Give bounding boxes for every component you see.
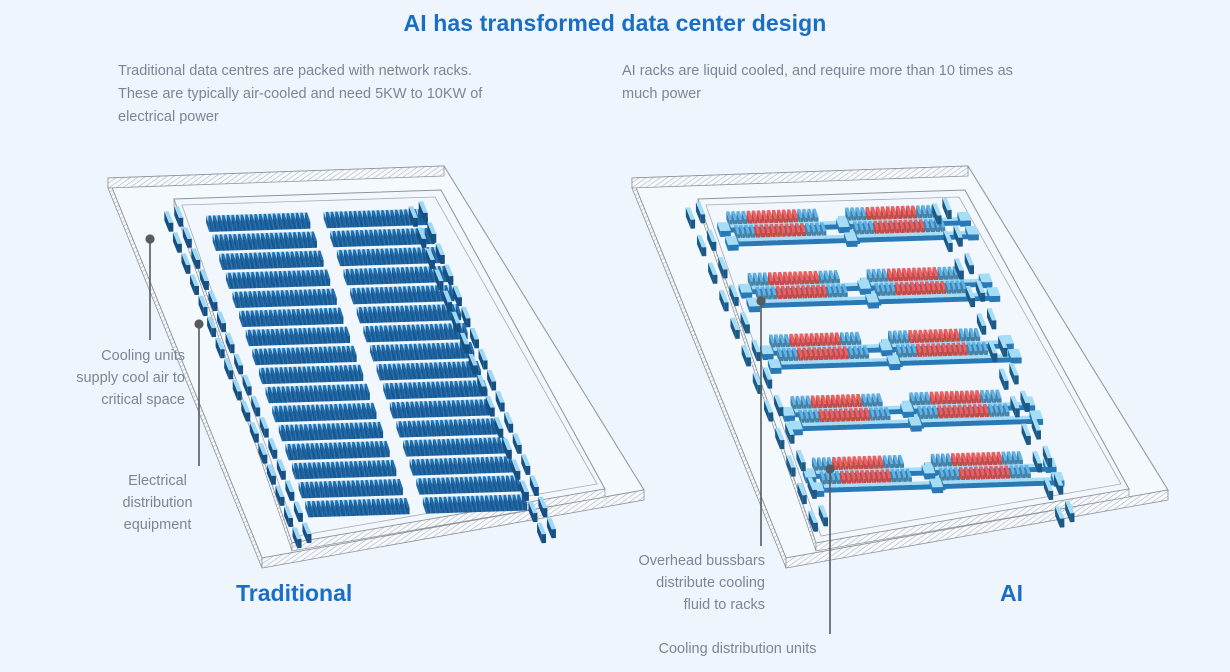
cooling-unit-side (947, 210, 951, 219)
cooling-unit-side (273, 450, 277, 459)
cooling-unit-side (473, 365, 477, 374)
cooling-unit-side (456, 323, 460, 332)
rack-unit-side (459, 313, 461, 320)
cooling-unit-side (169, 223, 173, 232)
annotation-electrical-distribution: Electrical distribution equipment (100, 470, 215, 536)
annotation-electrical-line-3: equipment (100, 514, 215, 536)
rack-unit-side (525, 503, 527, 510)
cooling-unit-side (205, 281, 209, 290)
rack-unit-side (335, 298, 337, 305)
cooling-unit-side (432, 234, 436, 243)
cooling-unit-side (734, 297, 738, 306)
rack-unit-side (315, 241, 317, 248)
cooling-unit-side (178, 244, 182, 253)
cooling-unit-side (280, 497, 284, 506)
cooling-unit-side (263, 455, 267, 464)
cooling-unit-side (483, 360, 487, 369)
cooling-unit-side (1048, 458, 1052, 467)
cooling-unit-side (222, 323, 226, 332)
cooling-unit-side (992, 320, 996, 329)
cooling-unit-side (499, 429, 503, 438)
cooling-distribution-unit-side (742, 292, 753, 298)
cooling-unit-side (516, 471, 520, 480)
cooling-unit-side (526, 466, 530, 475)
cooling-unit-side (802, 495, 806, 504)
cooling-distribution-unit-side (925, 473, 936, 479)
cooling-unit-side (958, 238, 962, 247)
annotation-electrical-line-2: distribution (100, 492, 215, 514)
rack-unit-side (401, 488, 403, 495)
cooling-unit-side (702, 247, 706, 256)
annotation-cdu-line-1: Cooling distribution units (630, 638, 845, 660)
cooling-unit-side (712, 242, 716, 251)
cooling-unit-side (780, 440, 784, 449)
cooling-unit-side (458, 297, 462, 306)
cooling-distribution-unit-side (982, 282, 993, 288)
cooling-unit-side (534, 487, 538, 496)
cooling-unit-side (552, 529, 556, 538)
cooling-unit-side (971, 298, 975, 307)
leader-dot-cooling-units (145, 234, 154, 243)
cooling-unit-side (1015, 408, 1019, 417)
cooling-distribution-unit-side (728, 244, 739, 250)
cooling-distribution-unit-side (847, 241, 858, 247)
cooling-unit-side (264, 428, 268, 437)
annotation-electrical-line-1: Electrical (100, 470, 215, 492)
cooling-unit-side (517, 445, 521, 454)
cooling-unit-side (196, 260, 200, 269)
rack-unit-side (374, 412, 376, 419)
annotation-bussbars-line-3: fluid to racks (600, 594, 765, 616)
cooling-distribution-unit-side (868, 302, 879, 308)
cooling-distribution-unit-side (968, 234, 979, 240)
cooling-unit-side (960, 270, 964, 279)
cooling-unit-side (203, 307, 207, 316)
cooling-unit-side (440, 255, 444, 264)
leader-dot-electrical (194, 319, 203, 328)
cooling-unit-side (801, 462, 805, 471)
cooling-unit-side (790, 435, 794, 444)
cooling-unit-side (1003, 348, 1007, 357)
cooling-distribution-unit-side (763, 354, 774, 360)
cooling-unit-side (466, 318, 470, 327)
cooling-unit-side (431, 260, 435, 269)
cooling-unit-side (465, 344, 469, 353)
cooling-unit-side (701, 214, 705, 223)
cooling-distribution-unit-side (1046, 467, 1057, 473)
cooling-unit-side (212, 328, 216, 337)
cooling-unit-side (246, 412, 250, 421)
cooling-unit-side (948, 243, 952, 252)
rack-unit-side (407, 507, 409, 514)
cooling-unit-side (542, 534, 546, 543)
rack-unit-side (381, 431, 383, 438)
cooling-distribution-unit-side (911, 425, 922, 431)
cooling-unit-side (769, 412, 773, 421)
cooling-distribution-unit-side (933, 487, 944, 493)
cooling-unit-side (509, 424, 513, 433)
cooling-unit-side (1027, 436, 1031, 445)
cooling-unit-side (229, 370, 233, 379)
cooling-unit-side (691, 220, 695, 229)
cooling-unit-side (220, 349, 224, 358)
cooling-unit-side (448, 302, 452, 311)
floor-label-traditional: Traditional (236, 580, 352, 607)
cooling-unit-side (1059, 486, 1063, 495)
rack-unit-side (341, 317, 343, 324)
cooling-unit-side (256, 407, 260, 416)
cooling-distribution-unit-side (960, 220, 971, 226)
leader-dot-bussbars (756, 296, 765, 305)
cooling-unit-side (439, 281, 443, 290)
cooling-unit-side (1060, 518, 1064, 527)
cooling-unit-side (299, 513, 303, 522)
annotation-cooling-distribution-units: Cooling distribution units (630, 638, 845, 660)
cooling-unit-side (500, 403, 504, 412)
cooling-unit-side (812, 490, 816, 499)
cooling-unit-side (791, 468, 795, 477)
cooling-unit-side (724, 302, 728, 311)
rack-unit-side (308, 222, 310, 229)
annotation-cooling-line-2: supply cool air to (10, 367, 185, 389)
cooling-unit-side (297, 539, 301, 548)
cooling-distribution-unit-side (990, 296, 1001, 302)
cooling-unit-side (230, 344, 234, 353)
rack-unit-side (328, 279, 330, 286)
cooling-unit-side (745, 324, 749, 333)
cooling-unit-side (492, 381, 496, 390)
cooling-distribution-unit-side (860, 288, 871, 294)
cooling-unit-side (814, 523, 818, 532)
cooling-unit-side (413, 218, 417, 227)
annotation-overhead-bussbars: Overhead bussbars distribute cooling flu… (600, 550, 765, 616)
cooling-unit-side (247, 386, 251, 395)
leader-dot-cdu (825, 464, 834, 473)
annotation-bussbars-line-2: distribute cooling (600, 572, 765, 594)
cooling-unit-side (449, 276, 453, 285)
cooling-unit-side (525, 492, 529, 501)
cooling-unit-side (272, 476, 276, 485)
rack-unit-side (361, 374, 363, 381)
cooling-unit-side (981, 293, 985, 302)
cooling-unit-side (254, 433, 258, 442)
cooling-unit-side (422, 239, 426, 248)
cooling-unit-side (1014, 375, 1018, 384)
rack-unit-side (368, 393, 370, 400)
annotation-bussbars-line-1: Overhead bussbars (600, 550, 765, 572)
cooling-unit-side (993, 353, 997, 362)
cooling-distribution-unit-side (882, 350, 893, 356)
cooling-unit-side (1037, 430, 1041, 439)
cooling-unit-side (1038, 463, 1042, 472)
cooling-unit-side (970, 265, 974, 274)
cooling-unit-side (289, 518, 293, 527)
rack-unit-side (394, 469, 396, 476)
cooling-unit-side (723, 269, 727, 278)
cooling-unit-side (1070, 513, 1074, 522)
cooling-unit-side (1025, 403, 1029, 412)
cooling-unit-side (290, 492, 294, 501)
cooling-unit-side (937, 215, 941, 224)
cooling-distribution-unit-side (890, 364, 901, 370)
cooling-unit-side (490, 407, 494, 416)
cooling-unit-side (187, 239, 191, 248)
ai-floor (632, 166, 1168, 568)
cooling-unit-side (237, 391, 241, 400)
cooling-unit-side (1049, 491, 1053, 500)
rack-unit-side (355, 355, 357, 362)
cooling-distribution-unit-side (771, 368, 782, 374)
cooling-unit-side (713, 275, 717, 284)
annotation-cooling-line-3: critical space (10, 389, 185, 411)
cooling-unit-side (475, 339, 479, 348)
cooling-distribution-unit-side (784, 415, 795, 421)
rack-unit-side (321, 260, 323, 267)
annotation-cooling-line-1: Cooling units (10, 345, 185, 367)
infographic-canvas: AI has transformed data center design Tr… (0, 0, 1230, 672)
cooling-unit-side (768, 379, 772, 388)
floor-label-ai: AI (1000, 580, 1023, 607)
cooling-unit-side (186, 265, 190, 274)
cooling-distribution-unit-side (903, 412, 914, 418)
cooling-unit-side (213, 302, 217, 311)
cooling-unit-side (179, 218, 183, 227)
rack-unit-side (388, 450, 390, 457)
cooling-distribution-unit-side (720, 231, 731, 237)
cooling-unit-side (533, 513, 537, 522)
cooling-unit-side (543, 508, 547, 517)
cooling-unit-side (482, 386, 486, 395)
cooling-distribution-unit-side (749, 306, 760, 312)
cooling-unit-side (824, 517, 828, 526)
cooling-unit-side (735, 330, 739, 339)
cooling-unit-side (307, 534, 311, 543)
cooling-distribution-unit-side (1011, 357, 1022, 363)
rack-unit-side (348, 336, 350, 343)
annotation-cooling-units: Cooling units supply cool air to critica… (10, 345, 185, 411)
cooling-unit-side (982, 326, 986, 335)
cooling-unit-side (747, 357, 751, 366)
cooling-unit-side (281, 471, 285, 480)
cooling-unit-side (779, 407, 783, 416)
cooling-unit-side (1004, 381, 1008, 390)
cooling-unit-side (239, 365, 243, 374)
cooling-distribution-unit-side (839, 227, 850, 233)
cooling-unit-side (507, 450, 511, 459)
cooling-unit-side (423, 213, 427, 222)
cooling-unit-side (195, 286, 199, 295)
